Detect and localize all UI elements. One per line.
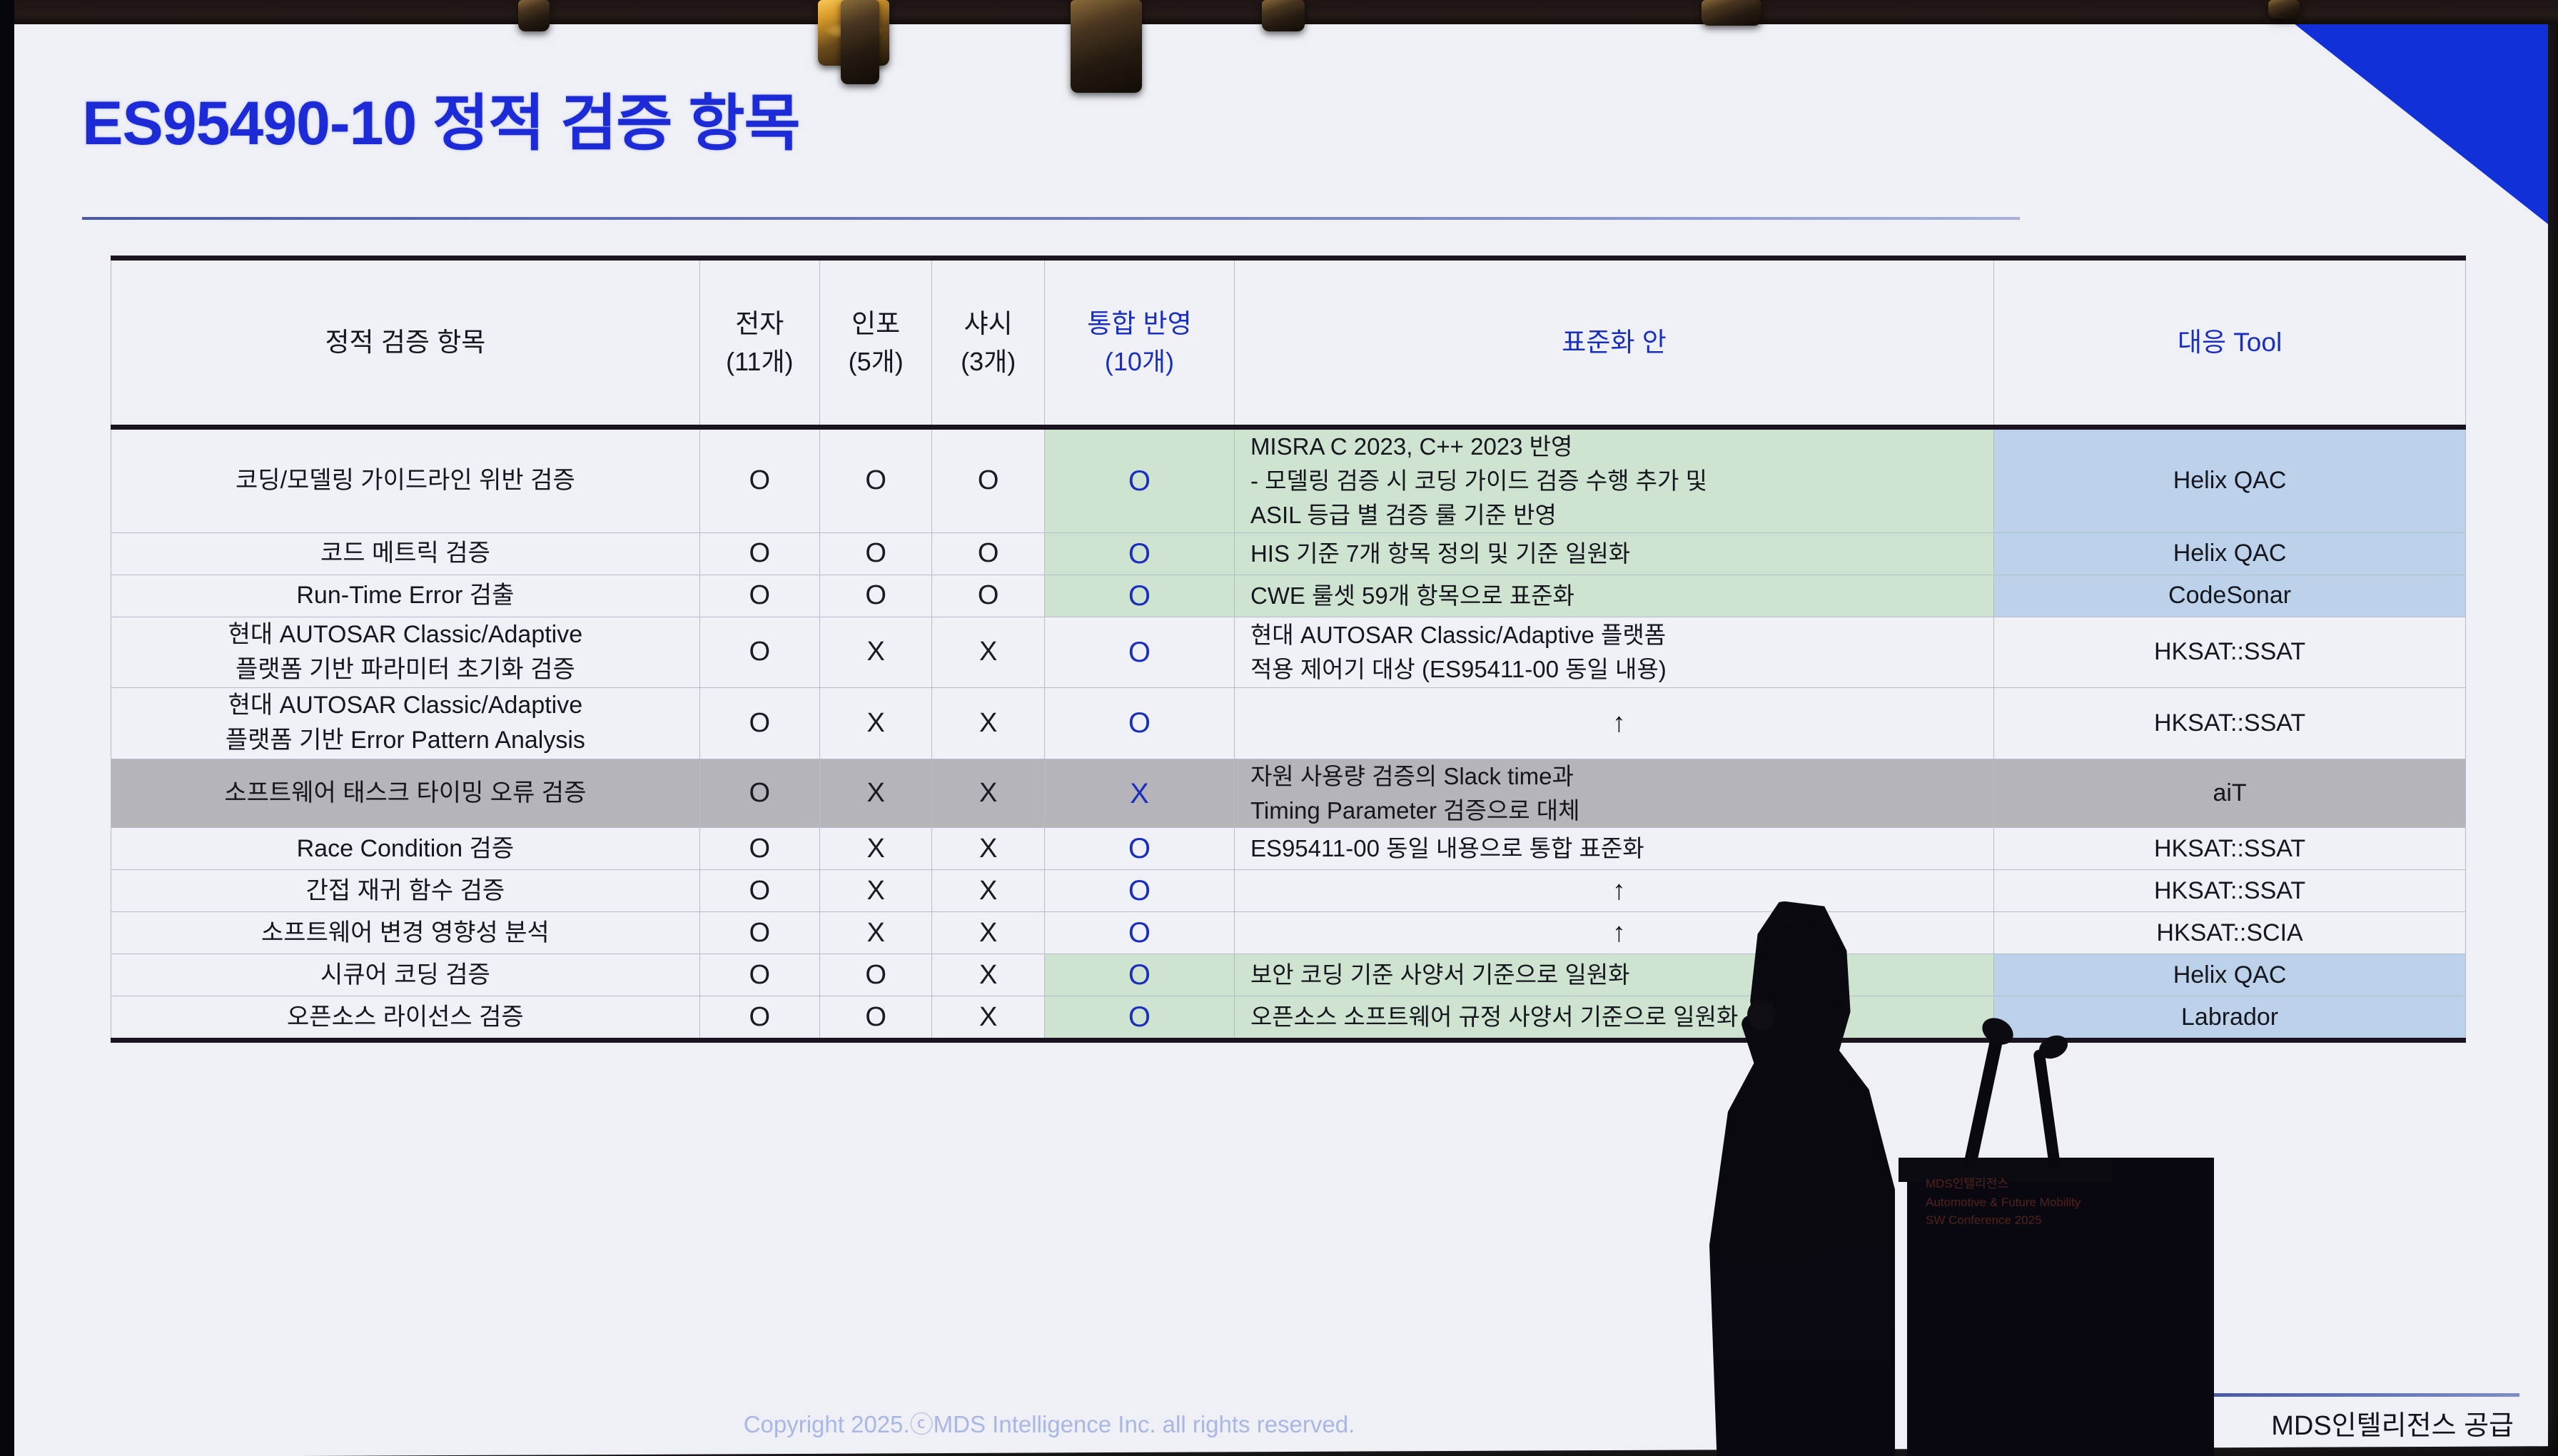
- col-header-electronics-count: (11개): [706, 343, 814, 380]
- cell-electronics: O: [699, 759, 819, 828]
- cell-item-line1: 코드 메트릭 검증: [320, 540, 490, 567]
- podium-sign-line2: Automotive & Future Mobility: [1926, 1193, 2104, 1212]
- cell-item-line1: 소프트웨어 태스크 타이밍 오류 검증: [224, 779, 586, 807]
- cell-standardization-plan: 현대 AUTOSAR Classic/Adaptive 플랫폼적용 제어기 대상…: [1234, 617, 1993, 688]
- cell-tool: HKSAT::SSAT: [1994, 828, 2466, 870]
- cell-standardization-plan: MISRA C 2023, C++ 2023 반영 - 모델링 검증 시 코딩 …: [1234, 428, 1993, 533]
- photographed-presentation-scene: ES95490-10 정적 검증 항목 정적 검증 항목 전자 (11개) 인포…: [0, 0, 2558, 1456]
- static-verification-table: 정적 검증 항목 전자 (11개) 인포 (5개) 샤시 (3개) 통합 반영: [111, 256, 2466, 1043]
- col-header-standard: 표준화 안: [1234, 258, 1993, 428]
- cell-tool: CodeSonar: [1994, 575, 2466, 617]
- col-header-info-label: 인포: [851, 309, 900, 338]
- cell-standard-line3: ASIL 등급 별 검증 룰 기준 반영: [1250, 498, 1988, 532]
- cell-info: X: [819, 688, 932, 759]
- col-header-integrated-count: (10개): [1051, 343, 1228, 380]
- cell-chassis: X: [932, 759, 1045, 828]
- cell-standardization-plan: ES95411-00 동일 내용으로 통합 표준화: [1234, 828, 1993, 870]
- table-row: 소프트웨어 변경 영향성 분석OXXO↑HKSAT::SCIA: [111, 912, 2466, 954]
- cell-item-line1: 시큐어 코딩 검증: [320, 961, 490, 989]
- cell-info: O: [819, 532, 932, 575]
- table-row: Run-Time Error 검출OOOOCWE 룰셋 59개 항목으로 표준화…: [111, 575, 2466, 617]
- cell-chassis: X: [932, 954, 1045, 996]
- table-header: 정적 검증 항목 전자 (11개) 인포 (5개) 샤시 (3개) 통합 반영: [111, 258, 2466, 428]
- table-row: 오픈소스 라이선스 검증OOXO오픈소스 소프트웨어 규정 사양서 기준으로 일…: [111, 996, 2466, 1041]
- cell-standard-line1: ↑: [1250, 914, 1988, 953]
- cell-integrated: O: [1044, 870, 1234, 912]
- col-header-info: 인포 (5개): [819, 258, 932, 428]
- cell-tool: HKSAT::SSAT: [1994, 870, 2466, 912]
- cell-electronics: O: [699, 828, 819, 870]
- table-row: 현대 AUTOSAR Classic/Adaptive플랫폼 기반 Error …: [111, 688, 2466, 759]
- cell-standard-line1: ↑: [1250, 871, 1988, 911]
- col-header-chassis: 샤시 (3개): [932, 258, 1045, 428]
- cell-standard-line1: MISRA C 2023, C++ 2023 반영: [1250, 430, 1988, 464]
- cell-item-line1: Race Condition 검증: [297, 835, 514, 862]
- cell-verification-item: Run-Time Error 검출: [111, 575, 700, 617]
- cell-item-line2: 플랫폼 기반 파라미터 초기화 검증: [117, 652, 694, 687]
- cell-tool: Helix QAC: [1994, 532, 2466, 575]
- table-row: 현대 AUTOSAR Classic/Adaptive플랫폼 기반 파라미터 초…: [111, 617, 2466, 688]
- col-header-info-count: (5개): [826, 343, 926, 380]
- cell-item-line1: 간접 재귀 함수 검증: [306, 877, 505, 904]
- cell-electronics: O: [699, 954, 819, 996]
- stage-light-6: [1702, 0, 1761, 26]
- cell-item-line1: 오픈소스 라이선스 검증: [287, 1003, 524, 1031]
- cell-integrated: O: [1044, 912, 1234, 954]
- cell-item-line1: 현대 AUTOSAR Classic/Adaptive: [228, 621, 583, 648]
- col-header-electronics-label: 전자: [735, 309, 784, 338]
- cell-chassis: O: [932, 575, 1045, 617]
- cell-item-line1: Run-Time Error 검출: [296, 582, 514, 609]
- cell-chassis: X: [932, 828, 1045, 870]
- cell-info: X: [819, 759, 932, 828]
- cell-standardization-plan: 보안 코딩 기준 사양서 기준으로 일원화: [1234, 954, 1993, 996]
- cell-info: O: [819, 954, 932, 996]
- cell-integrated: O: [1044, 617, 1234, 688]
- cell-chassis: X: [932, 617, 1045, 688]
- cell-standardization-plan: ↑: [1234, 688, 1993, 759]
- cell-integrated: O: [1044, 428, 1234, 533]
- cell-standard-line1: 오픈소스 소프트웨어 규정 사양서 기준으로 일원화: [1250, 1000, 1988, 1034]
- cell-verification-item: 소프트웨어 변경 영향성 분석: [111, 912, 700, 954]
- table-body: 코딩/모델링 가이드라인 위반 검증OOOOMISRA C 2023, C++ …: [111, 428, 2466, 1041]
- stage-light-3: [841, 0, 879, 84]
- podium-sign-line3: SW Conference 2025: [1926, 1211, 2104, 1230]
- cell-electronics: O: [699, 996, 819, 1041]
- cell-chassis: O: [932, 428, 1045, 533]
- cell-verification-item: 간접 재귀 함수 검증: [111, 870, 700, 912]
- cell-integrated: O: [1044, 828, 1234, 870]
- cell-integrated: O: [1044, 954, 1234, 996]
- cell-info: O: [819, 996, 932, 1041]
- cell-info: X: [819, 912, 932, 954]
- cell-standard-line2: Timing Parameter 검증으로 대체: [1250, 794, 1988, 828]
- cell-electronics: O: [699, 688, 819, 759]
- cell-item-line1: 현대 AUTOSAR Classic/Adaptive: [228, 692, 583, 719]
- cell-verification-item: 오픈소스 라이선스 검증: [111, 996, 700, 1041]
- cell-tool: Labrador: [1994, 996, 2466, 1041]
- cell-standardization-plan: ↑: [1234, 912, 1993, 954]
- cell-chassis: X: [932, 912, 1045, 954]
- cell-tool: HKSAT::SSAT: [1994, 617, 2466, 688]
- col-header-chassis-label: 샤시: [964, 309, 1013, 338]
- stage-light-4: [1071, 0, 1142, 93]
- cell-standard-line1: ES95411-00 동일 내용으로 통합 표준화: [1250, 831, 1988, 866]
- cell-standard-line1: 자원 사용량 검증의 Slack time과: [1250, 759, 1988, 794]
- stage-light-7: [2268, 0, 2300, 19]
- table-header-row: 정적 검증 항목 전자 (11개) 인포 (5개) 샤시 (3개) 통합 반영: [111, 258, 2466, 428]
- col-header-electronics: 전자 (11개): [699, 258, 819, 428]
- cell-tool: HKSAT::SSAT: [1994, 688, 2466, 759]
- stage-light-5: [1262, 0, 1305, 31]
- podium-sign-line1: MDS인텔리전스: [1926, 1175, 2104, 1193]
- cell-chassis: O: [932, 532, 1045, 575]
- cell-verification-item: 시큐어 코딩 검증: [111, 954, 700, 996]
- left-wall-shadow: [0, 0, 14, 1456]
- cell-standard-line1: HIS 기준 7개 항목 정의 및 기준 일원화: [1250, 537, 1988, 571]
- cell-verification-item: 코드 메트릭 검증: [111, 532, 700, 575]
- col-header-tool: 대응 Tool: [1994, 258, 2466, 428]
- cell-tool: aiT: [1994, 759, 2466, 828]
- table-row: Race Condition 검증OXXOES95411-00 동일 내용으로 …: [111, 828, 2466, 870]
- cell-integrated: O: [1044, 532, 1234, 575]
- table-row: 소프트웨어 태스크 타이밍 오류 검증OXXX자원 사용량 검증의 Slack …: [111, 759, 2466, 828]
- cell-electronics: O: [699, 870, 819, 912]
- cell-item-line1: 소프트웨어 변경 영향성 분석: [261, 919, 550, 946]
- cell-standardization-plan: 자원 사용량 검증의 Slack time과Timing Parameter 검…: [1234, 759, 1993, 828]
- cell-tool: HKSAT::SCIA: [1994, 912, 2466, 954]
- cell-info: X: [819, 828, 932, 870]
- cell-standardization-plan: ↑: [1234, 870, 1993, 912]
- cell-electronics: O: [699, 575, 819, 617]
- cell-standard-line1: ↑: [1250, 704, 1988, 743]
- col-header-chassis-count: (3개): [938, 343, 1038, 380]
- table-row: 간접 재귀 함수 검증OXXO↑HKSAT::SSAT: [111, 870, 2466, 912]
- cell-electronics: O: [699, 532, 819, 575]
- cell-info: X: [819, 870, 932, 912]
- table-row: 코딩/모델링 가이드라인 위반 검증OOOOMISRA C 2023, C++ …: [111, 428, 2466, 533]
- cell-electronics: O: [699, 617, 819, 688]
- cell-integrated: O: [1044, 575, 1234, 617]
- col-header-integrated-label: 통합 반영: [1087, 309, 1191, 338]
- table-row: 코드 메트릭 검증OOOOHIS 기준 7개 항목 정의 및 기준 일원화Hel…: [111, 532, 2466, 575]
- podium-sign: MDS인텔리전스 Automotive & Future Mobility SW…: [1920, 1171, 2110, 1265]
- cell-standard-line1: 보안 코딩 기준 사양서 기준으로 일원화: [1250, 958, 1988, 992]
- table-row: 시큐어 코딩 검증OOXO보안 코딩 기준 사양서 기준으로 일원화Helix …: [111, 954, 2466, 996]
- title-divider: [82, 217, 2020, 220]
- cell-verification-item: 현대 AUTOSAR Classic/Adaptive플랫폼 기반 Error …: [111, 688, 700, 759]
- cell-integrated: X: [1044, 759, 1234, 828]
- cell-item-line2: 플랫폼 기반 Error Pattern Analysis: [117, 723, 694, 758]
- stage-light-1: [518, 0, 550, 31]
- cell-verification-item: 현대 AUTOSAR Classic/Adaptive플랫폼 기반 파라미터 초…: [111, 617, 700, 688]
- cell-integrated: O: [1044, 996, 1234, 1041]
- cell-verification-item: Race Condition 검증: [111, 828, 700, 870]
- cell-standardization-plan: HIS 기준 7개 항목 정의 및 기준 일원화: [1234, 532, 1993, 575]
- cell-info: O: [819, 575, 932, 617]
- cell-standard-line2: 적용 제어기 대상 (ES95411-00 동일 내용): [1250, 652, 1988, 687]
- cell-chassis: X: [932, 996, 1045, 1041]
- cell-standard-line1: 현대 AUTOSAR Classic/Adaptive 플랫폼: [1250, 618, 1988, 652]
- cell-tool: Helix QAC: [1994, 954, 2466, 996]
- cell-standard-line2: - 모델링 검증 시 코딩 가이드 검증 수행 추가 및: [1250, 464, 1988, 498]
- cell-info: O: [819, 428, 932, 533]
- cell-standard-line1: CWE 룰셋 59개 항목으로 표준화: [1250, 579, 1988, 613]
- col-header-integrated: 통합 반영 (10개): [1044, 258, 1234, 428]
- cell-info: X: [819, 617, 932, 688]
- cell-verification-item: 소프트웨어 태스크 타이밍 오류 검증: [111, 759, 700, 828]
- handheld-microphone-head: [1747, 999, 1776, 1031]
- cell-tool: Helix QAC: [1994, 428, 2466, 533]
- corner-triangle-decoration: [2248, 10, 2548, 224]
- page-title: ES95490-10 정적 검증 항목: [82, 73, 800, 162]
- col-header-item: 정적 검증 항목: [111, 258, 700, 428]
- cell-item-line1: 코딩/모델링 가이드라인 위반 검증: [236, 467, 575, 494]
- cell-electronics: O: [699, 428, 819, 533]
- cell-integrated: O: [1044, 688, 1234, 759]
- cell-standardization-plan: 오픈소스 소프트웨어 규정 사양서 기준으로 일원화: [1234, 996, 1993, 1041]
- cell-chassis: X: [932, 688, 1045, 759]
- cell-electronics: O: [699, 912, 819, 954]
- cell-standardization-plan: CWE 룰셋 59개 항목으로 표준화: [1234, 575, 1993, 617]
- supply-note: MDS인텔리전스 공급: [2271, 1403, 2514, 1442]
- cell-verification-item: 코딩/모델링 가이드라인 위반 검증: [111, 428, 700, 533]
- cell-chassis: X: [932, 870, 1045, 912]
